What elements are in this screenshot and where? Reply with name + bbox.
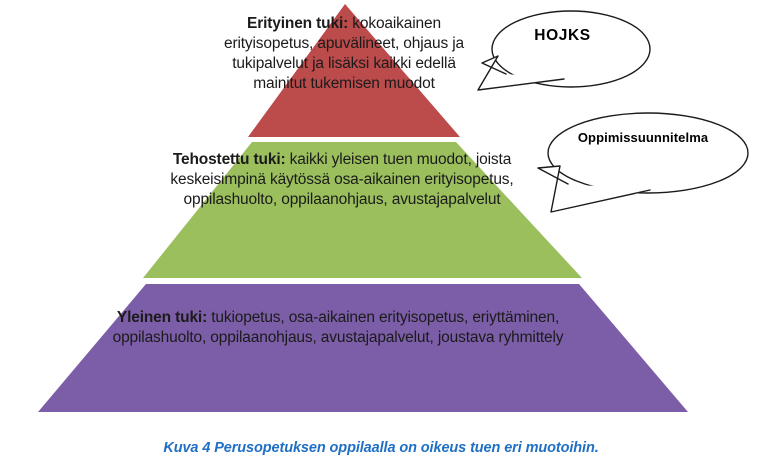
- pyramid-tier-top-label: Erityinen tuki: kokoaikainen erityisopet…: [208, 14, 480, 95]
- pyramid-tier-bottom-lead: Yleinen tuki:: [117, 309, 207, 326]
- pyramid-tier-bottom-label: Yleinen tuki: tukiopetus, osa-aikainen e…: [108, 308, 568, 348]
- callout-oppimissuunnitelma-label: Oppimissuunnitelma: [552, 130, 734, 145]
- pyramid-tier-middle-lead: Tehostettu tuki:: [173, 151, 286, 168]
- figure-caption: Kuva 4 Perusopetuksen oppilaalla on oike…: [0, 440, 762, 456]
- callout-bubble-oppimissuunnitelma: [522, 108, 754, 220]
- pyramid-tier-middle-label: Tehostettu tuki: kaikki yleisen tuen muo…: [162, 150, 522, 210]
- figure-canvas: Erityinen tuki: kokoaikainen erityisopet…: [0, 0, 762, 468]
- callout-hojks-label: HOJKS: [490, 27, 635, 45]
- pyramid-tier-top-lead: Erityinen tuki:: [247, 15, 348, 32]
- callout-bubble-hojks: [472, 6, 654, 102]
